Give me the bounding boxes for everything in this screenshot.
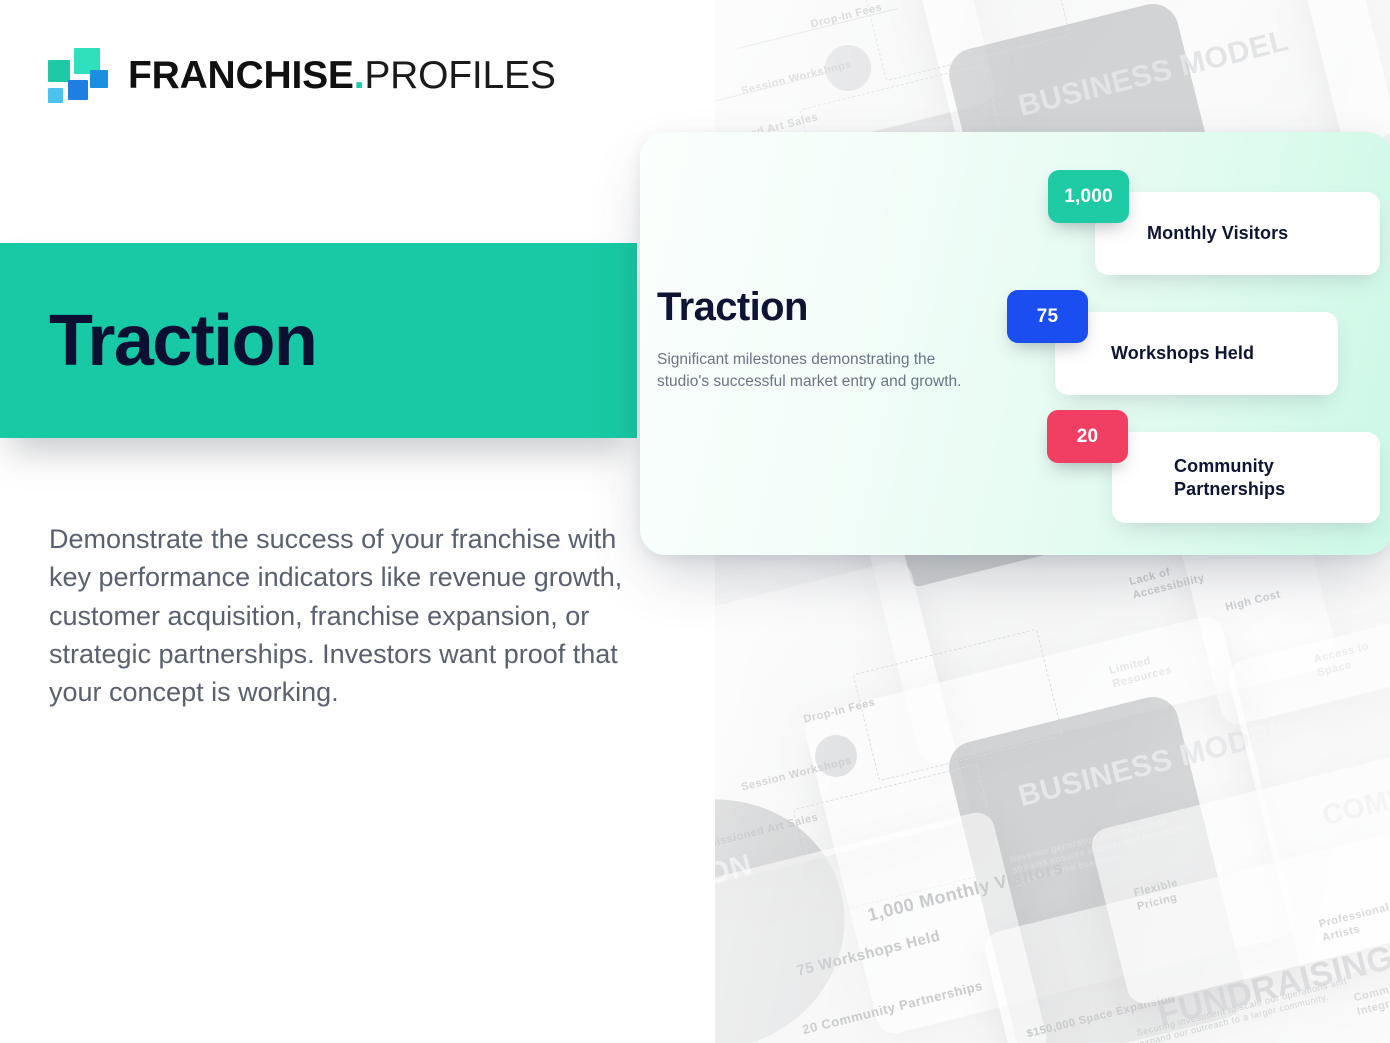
slide-canvas: BUSINESS MODEL Revenue generation throug… [0, 0, 1390, 1043]
section-title-band: Traction [0, 243, 637, 438]
brand-name-light: PROFILES [364, 56, 555, 95]
section-description: Demonstrate the success of your franchis… [49, 520, 629, 712]
metric-value: 75 [1037, 306, 1059, 328]
metric-value: 20 [1077, 426, 1099, 448]
metric-value-badge: 1,000 [1048, 170, 1129, 223]
metric-value-badge: 20 [1047, 410, 1128, 463]
card-title: Traction [657, 287, 987, 327]
metric-label: Monthly Visitors [1147, 222, 1288, 245]
traction-preview-card[interactable]: Traction Significant milestones demonstr… [640, 132, 1390, 555]
metric-value-badge: 75 [1007, 290, 1088, 343]
metric-item[interactable]: Community Partnerships 20 [1005, 410, 1380, 515]
card-text-column: Traction Significant milestones demonstr… [657, 287, 987, 394]
metric-label-plate: Community Partnerships [1112, 432, 1380, 523]
metric-label-plate: Monthly Visitors [1095, 192, 1380, 275]
metric-label: Workshops Held [1111, 342, 1254, 365]
metric-label-plate: Workshops Held [1055, 312, 1338, 395]
metric-value: 1,000 [1064, 186, 1113, 208]
logo-mark-icon [48, 46, 106, 104]
metric-item[interactable]: Workshops Held 75 [1005, 290, 1380, 395]
brand-logo[interactable]: FRANCHISE.PROFILES [48, 46, 556, 104]
metric-item[interactable]: Monthly Visitors 1,000 [1005, 170, 1380, 275]
brand-name-bold: FRANCHISE [128, 56, 354, 95]
metrics-list: Monthly Visitors 1,000 Workshops Held 75… [1005, 170, 1380, 515]
card-description: Significant milestones demonstrating the… [657, 349, 987, 394]
metric-label: Community Partnerships [1174, 455, 1380, 500]
brand-wordmark: FRANCHISE.PROFILES [128, 56, 556, 95]
page-title: Traction [49, 305, 316, 377]
brand-dot: . [354, 56, 365, 95]
